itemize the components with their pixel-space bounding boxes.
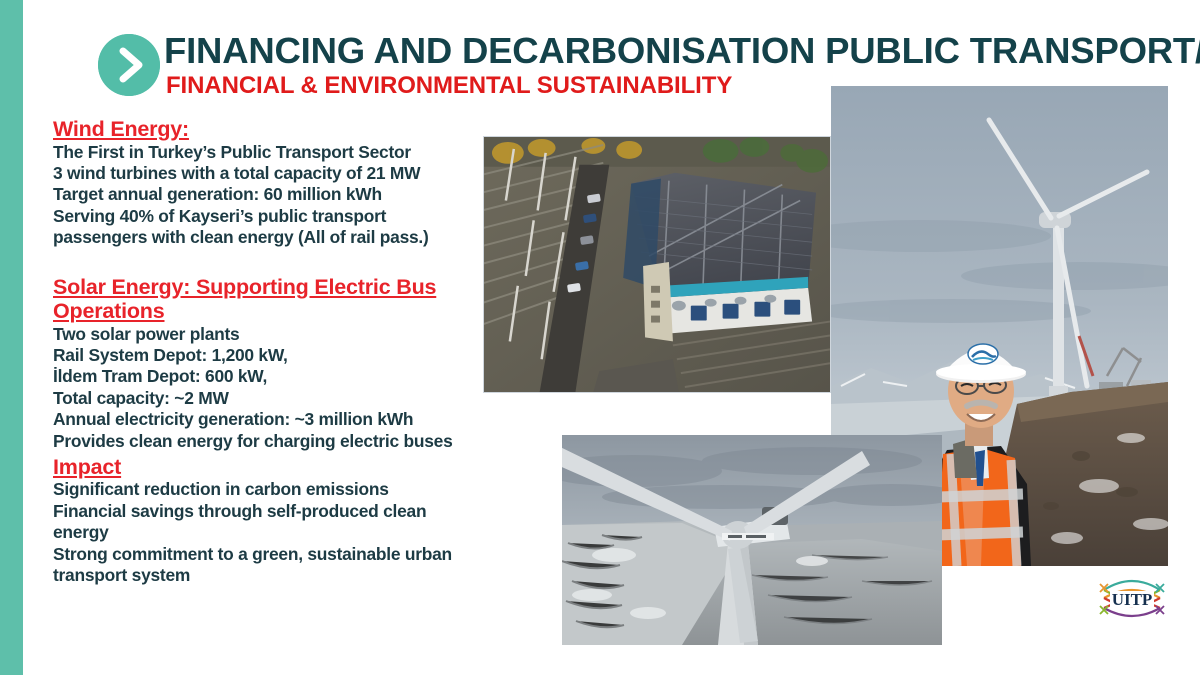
aerial-depot-solar-panels-image (483, 136, 831, 393)
text-line: passengers with clean energy (All of rai… (53, 227, 485, 248)
section-heading-impact: Impact (53, 455, 485, 480)
text-line: Rail System Depot: 1,200 kW, (53, 345, 485, 366)
text-line: Significant reduction in carbon emission… (53, 479, 485, 500)
uitp-logo-text: UITP (1112, 590, 1153, 609)
text-line: 3 wind turbines with a total capacity of… (53, 163, 485, 184)
section-heading-solar-energy: Solar Energy: Supporting Electric Bus Op… (53, 275, 485, 324)
text-line: Annual electricity generation: ~3 millio… (53, 409, 485, 430)
slide-canvas: FINANCING AND DECARBONISATION PUBLIC TRA… (0, 0, 1200, 675)
text-line: Strong commitment to a green, sustainabl… (53, 544, 485, 587)
chevron-right-icon (98, 34, 160, 96)
text-line: The First in Turkey’s Public Transport S… (53, 142, 485, 163)
section-heading-wind-energy: Wind Energy: (53, 117, 485, 142)
spacer (53, 249, 485, 275)
text-line: Total capacity: ~2 MW (53, 388, 485, 409)
text-line: Target annual generation: 60 million kWh (53, 184, 485, 205)
text-line: Financial savings through self-produced … (53, 501, 485, 544)
uitp-logo: UITP (1096, 568, 1168, 628)
text-line: Serving 40% of Kayseri’s public transpor… (53, 206, 485, 227)
wind-turbine-closeup-image (562, 435, 942, 645)
text-line: Provides clean energy for charging elect… (53, 431, 485, 452)
text-line: Two solar power plants (53, 324, 485, 345)
content-text-column: Wind Energy: The First in Turkey’s Publi… (53, 117, 485, 587)
text-line: İldem Tram Depot: 600 kW, (53, 366, 485, 387)
left-accent-bar (0, 0, 23, 675)
page-title: FINANCING AND DECARBONISATION PUBLIC TRA… (164, 32, 1164, 69)
